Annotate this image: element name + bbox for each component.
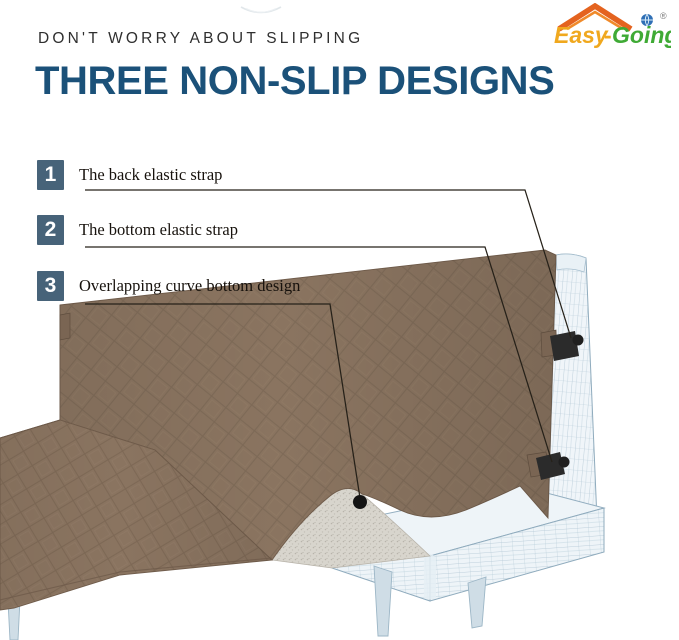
sofa-legs bbox=[8, 566, 486, 640]
chevron-down-icon bbox=[240, 6, 282, 18]
strap-clip-back bbox=[541, 330, 584, 361]
strap-clip-bottom bbox=[527, 452, 570, 480]
infographic-page: DON'T WORRY ABOUT SLIPPING THREE NON-SLI… bbox=[0, 0, 679, 640]
callout-2-label: The bottom elastic strap bbox=[79, 220, 238, 240]
cover-seat bbox=[0, 305, 272, 610]
eyebrow-text: DON'T WORRY ABOUT SLIPPING bbox=[38, 30, 363, 48]
callout-3-label: Overlapping curve bottom design bbox=[79, 276, 300, 296]
callout-1-label: The back elastic strap bbox=[79, 165, 222, 185]
cover-left-strap-tab bbox=[60, 313, 70, 340]
easy-going-logo: Easy - Going ® bbox=[541, 3, 671, 51]
leader-line-1 bbox=[85, 190, 571, 338]
logo-text-separator: - bbox=[604, 22, 612, 48]
callout-1: 1 The back elastic strap bbox=[37, 160, 222, 190]
callout-3: 3 Overlapping curve bottom design bbox=[37, 271, 300, 301]
callout-3-badge: 3 bbox=[37, 271, 64, 301]
marker-dot-overlap bbox=[353, 495, 367, 509]
callout-2-badge: 2 bbox=[37, 215, 64, 245]
callout-2: 2 The bottom elastic strap bbox=[37, 215, 238, 245]
page-title: THREE NON-SLIP DESIGNS bbox=[35, 59, 554, 103]
trademark-symbol: ® bbox=[660, 11, 667, 21]
sofa-frame-base bbox=[332, 486, 604, 601]
sofa-frame-right-arm bbox=[548, 254, 597, 524]
logo-text-easy: Easy bbox=[554, 22, 609, 48]
cover-underside bbox=[272, 486, 604, 568]
logo-text-going: Going bbox=[612, 22, 671, 48]
leader-line-3 bbox=[85, 304, 360, 498]
callout-1-badge: 1 bbox=[37, 160, 64, 190]
